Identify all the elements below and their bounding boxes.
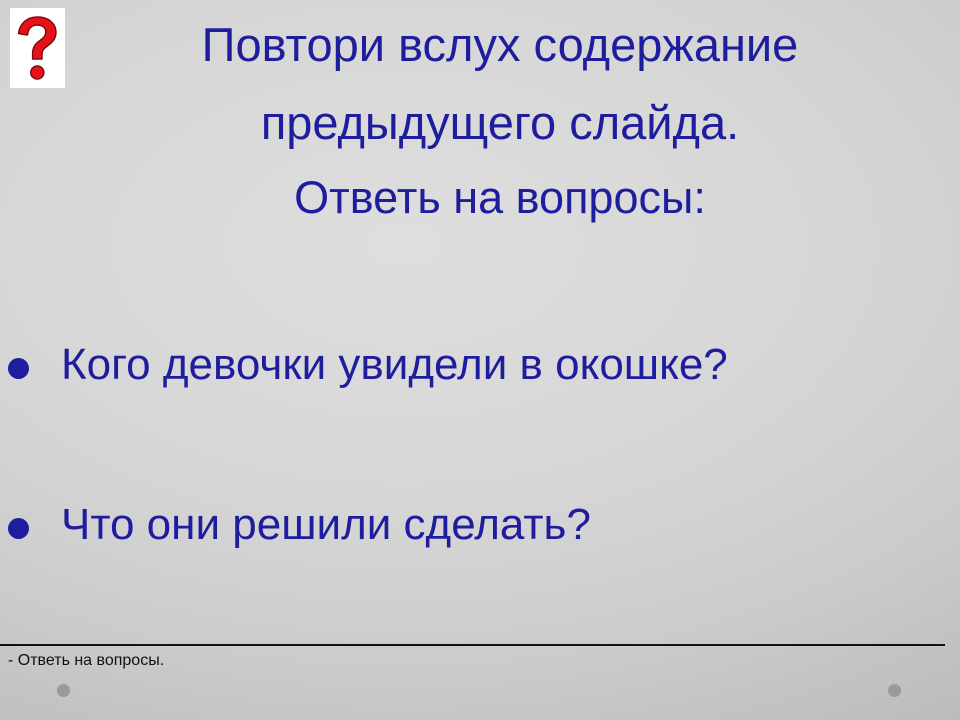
- questions-list: Кого девочки увидели в окошке? Что они р…: [0, 330, 960, 556]
- title-line-1: Повтори вслух содержание: [80, 6, 920, 84]
- question-text-1: Кого девочки увидели в окошке?: [29, 336, 960, 394]
- slide-canvas: Повтори вслух содержание предыдущего сла…: [0, 0, 960, 720]
- bullet-icon: [8, 518, 29, 539]
- question-text-2: Что они решили сделать?: [29, 496, 960, 554]
- decorative-dot-left: [57, 684, 70, 697]
- question-mark-badge: [10, 8, 65, 88]
- decorative-dot-right: [888, 684, 901, 697]
- title-line-2: предыдущего слайда.: [80, 84, 920, 162]
- list-item: Что они решили сделать?: [0, 496, 960, 556]
- question-mark-icon: [16, 14, 60, 82]
- list-item: Кого девочки увидели в окошке?: [0, 336, 960, 396]
- footer-divider: [0, 644, 945, 646]
- bullet-icon: [8, 358, 29, 379]
- slide-title: Повтори вслух содержание предыдущего сла…: [80, 6, 920, 234]
- footer-note: - Ответь на вопросы.: [8, 650, 164, 672]
- title-line-3: Ответь на вопросы:: [80, 162, 920, 234]
